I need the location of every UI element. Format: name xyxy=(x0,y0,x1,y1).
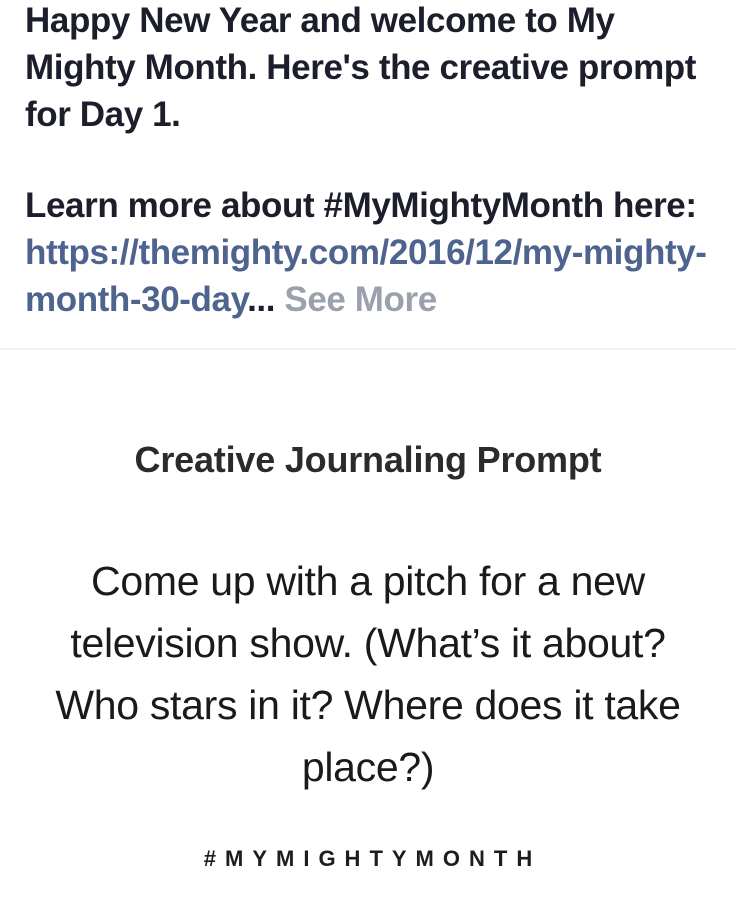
post-paragraph-link-prefix: Learn more about #MyMightyMonth here: xyxy=(25,186,697,225)
see-more-button[interactable]: See More xyxy=(284,280,436,319)
post-message-body: Happy New Year and welcome to My Mighty … xyxy=(0,0,736,349)
truncation-ellipsis: ... xyxy=(247,280,275,319)
attachment-hashtag: #MYMIGHTYMONTH xyxy=(0,846,736,872)
attachment-prompt-text: Come up with a pitch for a new televisio… xyxy=(28,550,708,798)
post-attached-image[interactable]: Creative Journaling Prompt Come up with … xyxy=(0,350,736,908)
attachment-heading: Creative Journaling Prompt xyxy=(0,438,736,482)
post-paragraph-greeting: Happy New Year and welcome to My Mighty … xyxy=(25,0,714,138)
post-paragraph-link: Learn more about #MyMightyMonth here: ht… xyxy=(25,182,714,323)
